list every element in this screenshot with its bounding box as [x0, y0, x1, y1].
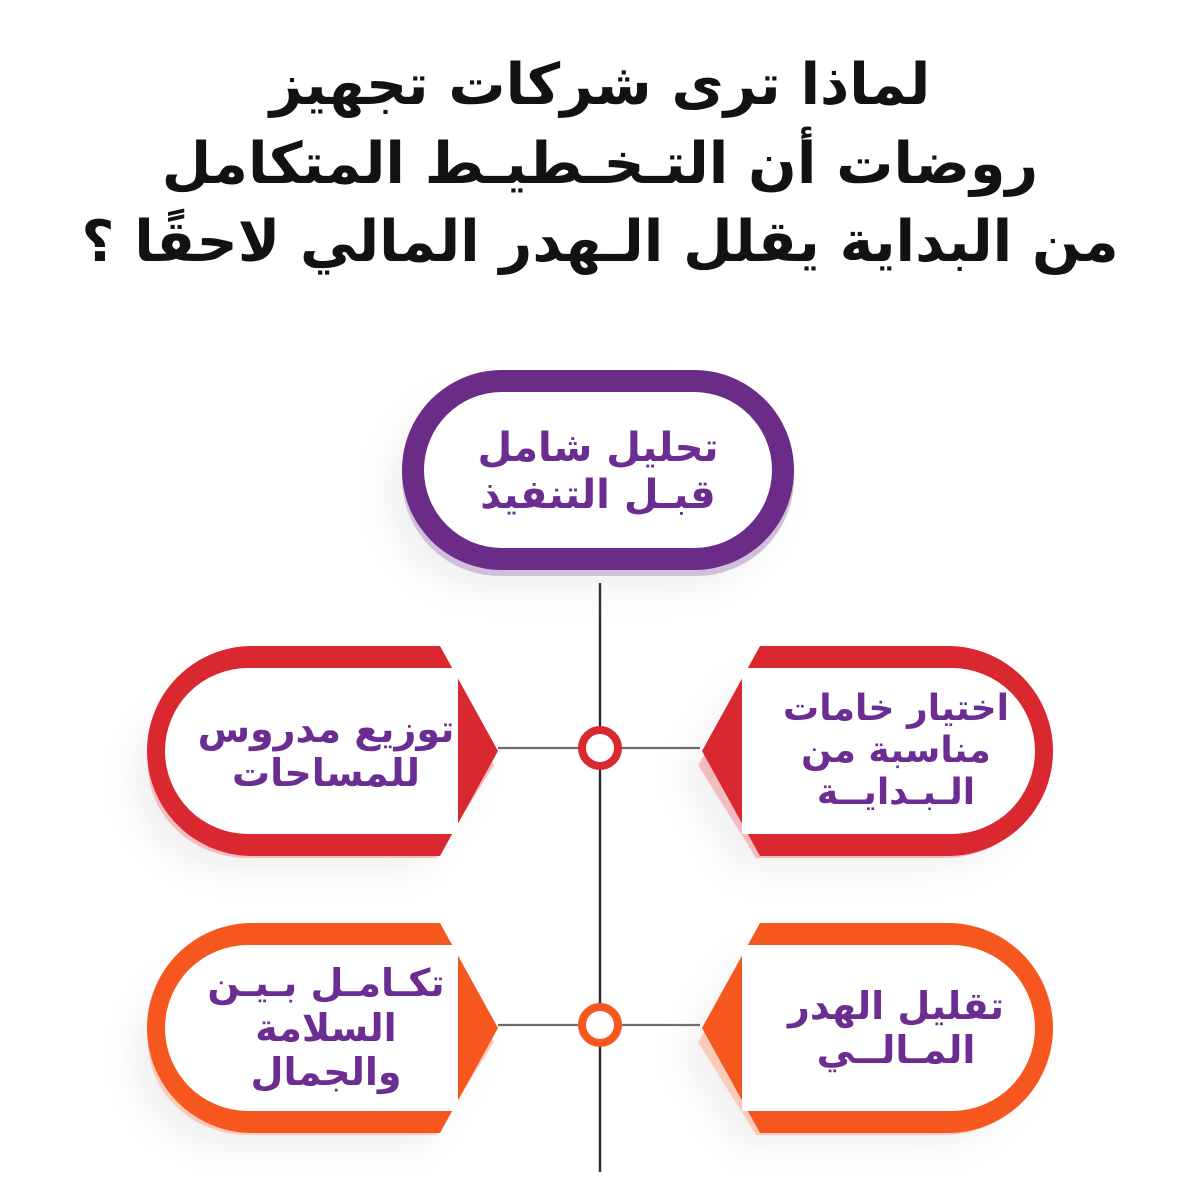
materials-selection-node[interactable]: اختيار خامات مناسبة من الـبـدايــة	[680, 636, 1060, 866]
safety-beauty-node[interactable]: تكـامـل بـيـن السلامة والجمال	[140, 913, 520, 1143]
financial-waste-node[interactable]: تقليل الهدر المـالــي	[680, 913, 1060, 1143]
space-distribution-node[interactable]: توزيع مدروس للمساحات	[140, 636, 520, 866]
node-inner	[742, 945, 1035, 1111]
infographic-canvas: لماذا ترى شركات تجهيز روضات أن التـخـطيـ…	[0, 0, 1200, 1200]
analysis-node[interactable]: تحليل شامل قبـل التنفيذ	[398, 364, 802, 584]
node-inner	[165, 668, 458, 834]
node-inner	[165, 945, 458, 1111]
node-inner	[742, 668, 1035, 834]
node-inner	[424, 392, 772, 548]
